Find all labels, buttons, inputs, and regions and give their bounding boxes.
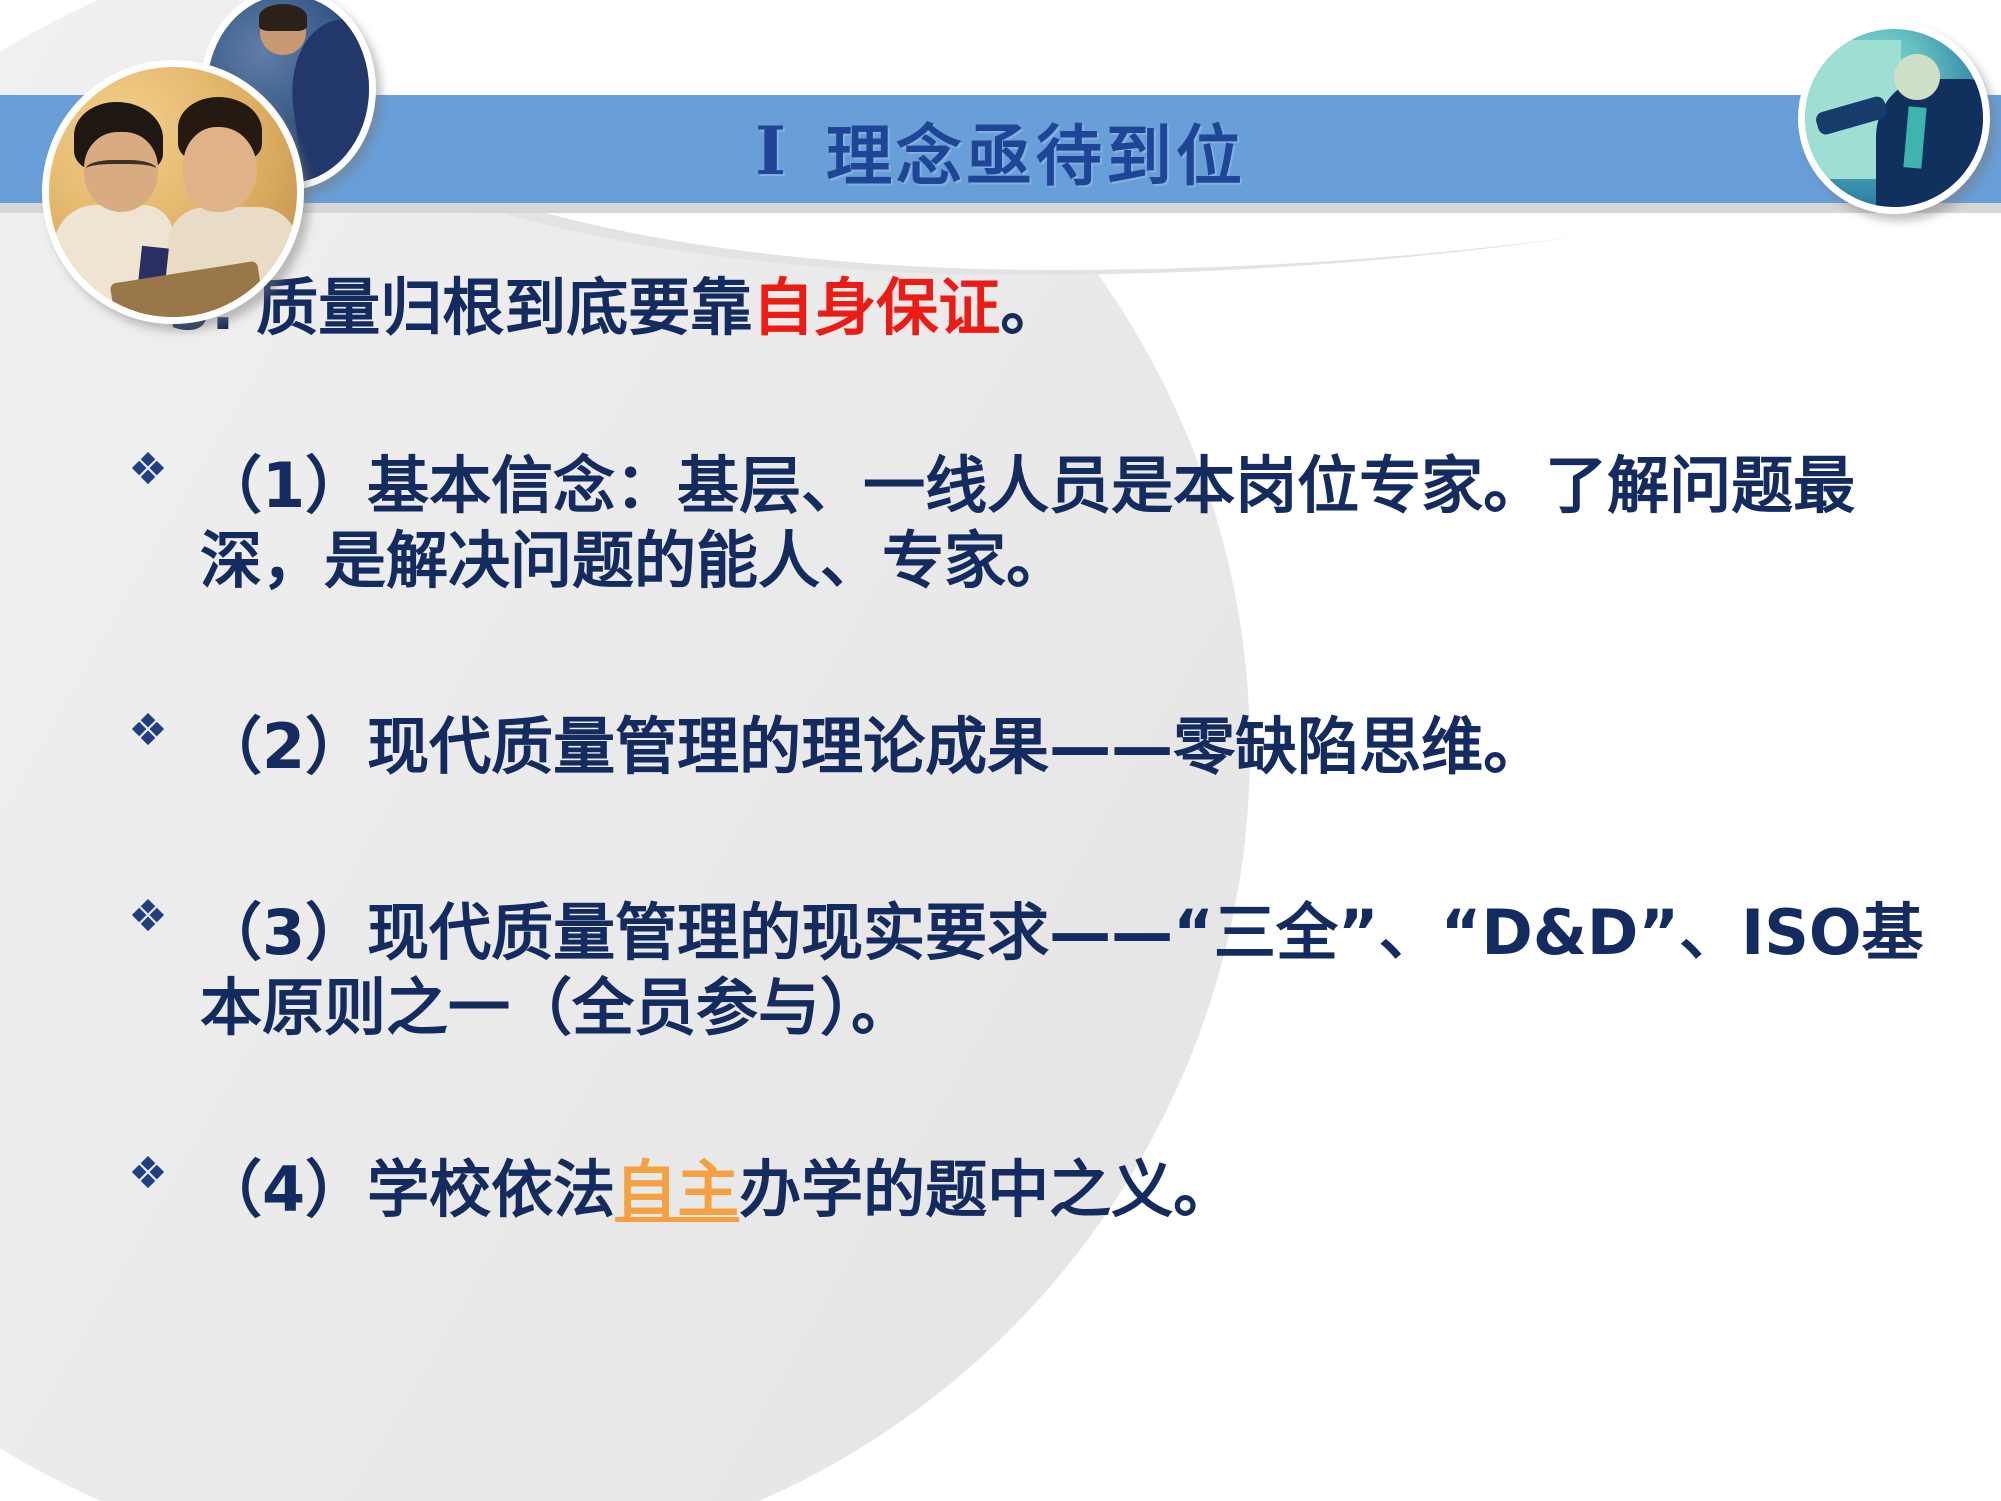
title-heading: 理念亟待到位 bbox=[826, 103, 1246, 199]
bullet-text-2: （1）基本信念：基层、一线人员是本岗位专家。了解问题最深，是解决问题的能人、专家… bbox=[200, 448, 2001, 599]
presenter-whiteboard-photo bbox=[1798, 22, 1990, 214]
presentation-slide: I 理念亟待到位 ❖ 5. 质量归根到底要靠自身保证。 ❖ （1）基本信念 bbox=[0, 0, 2001, 1501]
diamond-bullet-icon: ❖ bbox=[96, 895, 200, 939]
bullet-item-5: ❖ （4）学校依法自主办学的题中之义。 bbox=[96, 1152, 2001, 1228]
diamond-bullet-icon: ❖ bbox=[96, 448, 200, 492]
slide-body: ❖ 5. 质量归根到底要靠自身保证。 ❖ （1）基本信念：基层、一线人员是本岗位… bbox=[0, 250, 2001, 1227]
bullet-text-1: 5. 质量归根到底要靠自身保证。 bbox=[168, 270, 2001, 346]
bullet-1-highlight-red: 自身保证 bbox=[752, 271, 1000, 344]
bullet-5-highlight-orange: 自主 bbox=[615, 1153, 739, 1226]
bullet-1-segment-3: 。 bbox=[1000, 271, 1062, 344]
photo-shape-presenter-suit bbox=[1876, 79, 1990, 214]
photo-shape-face-right bbox=[183, 127, 257, 212]
bullet-text-4: （3）现代质量管理的现实要求——“三全”、“D&D”、ISO基本原则之一（全员参… bbox=[200, 895, 2001, 1046]
diamond-bullet-icon: ❖ bbox=[96, 1152, 200, 1196]
bullet-item-4: ❖ （3）现代质量管理的现实要求——“三全”、“D&D”、ISO基本原则之一（全… bbox=[96, 895, 2001, 1046]
photo-shape-hair bbox=[259, 4, 308, 30]
photo-shape-glasses bbox=[86, 160, 155, 182]
office-workers-photo bbox=[42, 60, 304, 324]
diamond-bullet-icon: ❖ bbox=[96, 709, 200, 753]
bullet-item-3: ❖ （2）现代质量管理的理论成果——零缺陷思维。 bbox=[96, 709, 2001, 785]
bullet-item-1: ❖ 5. 质量归根到底要靠自身保证。 bbox=[96, 270, 2001, 346]
bullet-text-3: （2）现代质量管理的理论成果——零缺陷思维。 bbox=[200, 709, 2001, 785]
bullet-item-2: ❖ （1）基本信念：基层、一线人员是本岗位专家。了解问题最深，是解决问题的能人、… bbox=[96, 448, 2001, 599]
bullet-text-5: （4）学校依法自主办学的题中之义。 bbox=[200, 1152, 2001, 1228]
bullet-5-segment-3: 办学的题中之义。 bbox=[739, 1153, 1235, 1226]
bullet-5-segment-1: （4）学校依法 bbox=[200, 1153, 615, 1226]
title-roman-numeral: I bbox=[755, 112, 790, 190]
